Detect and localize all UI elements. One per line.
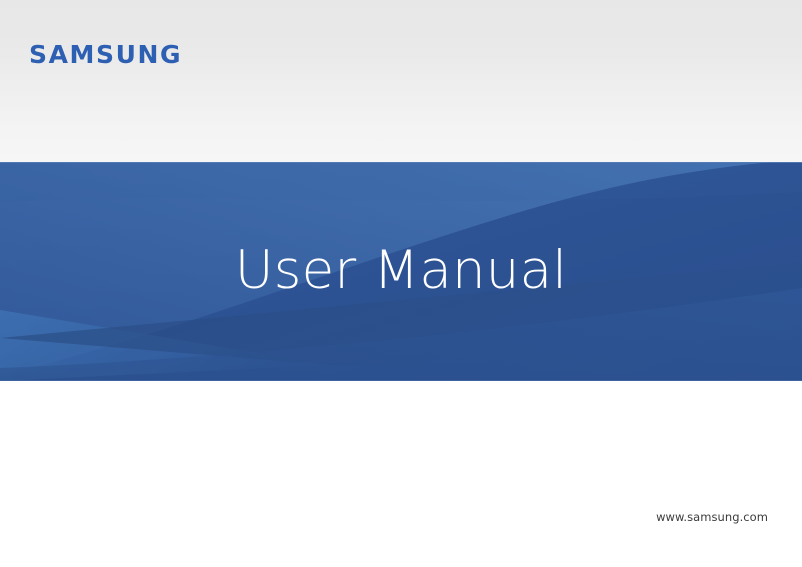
samsung-wordmark-logo: SAMSUNG [29, 43, 179, 67]
samsung-website-url[interactable]: www.samsung.com [656, 510, 768, 524]
footer-area: www.samsung.com [0, 381, 802, 567]
samsung-logo-svg: SAMSUNG [29, 43, 179, 67]
page-title: User Manual [235, 244, 567, 297]
user-manual-cover-page: SAMSUNG [0, 0, 802, 567]
header-band [0, 0, 802, 163]
hero-banner: User Manual [0, 162, 802, 381]
page-title-container: User Manual [0, 162, 802, 381]
samsung-logo-text: SAMSUNG [29, 43, 179, 67]
